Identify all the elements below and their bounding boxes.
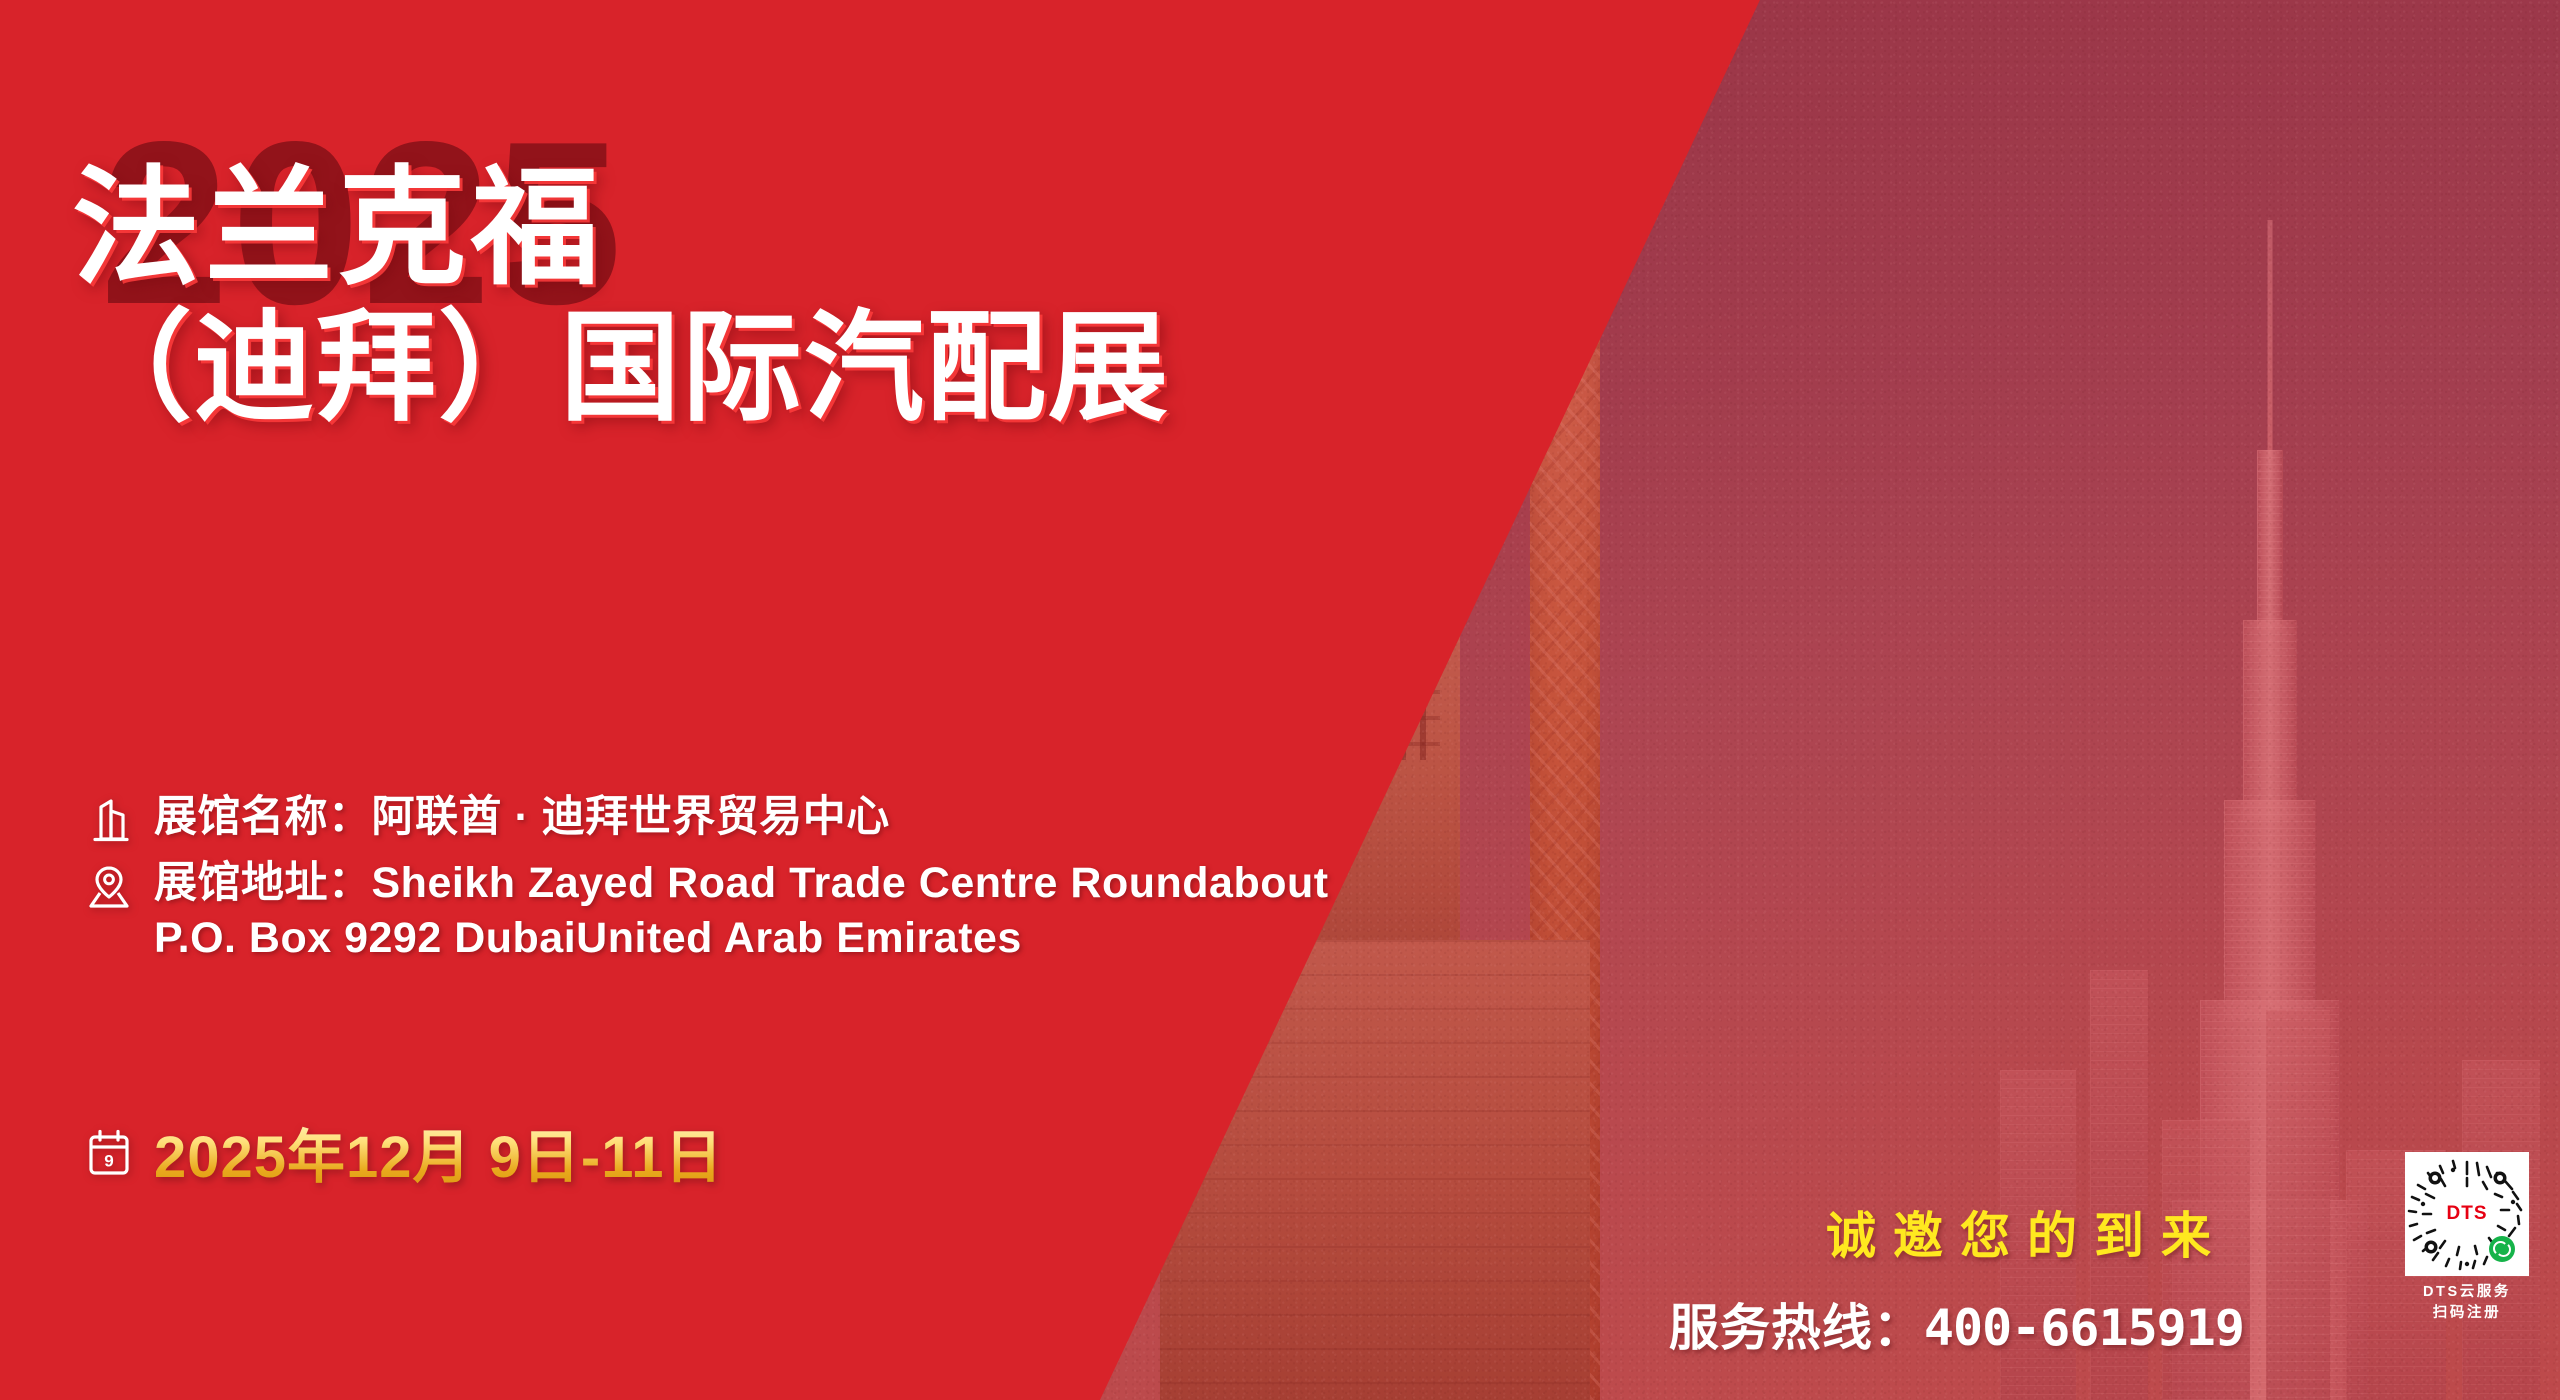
hotline-label: 服务热线：	[1669, 1300, 1924, 1356]
title-line-2: （迪拜）国际汽配展	[72, 304, 1170, 434]
exhibition-poster: 2025 法兰克福 （迪拜）国际汽配展 展馆名称：阿联酋 · 迪拜世界贸易中心	[0, 0, 2560, 1400]
invitation-text: 诚邀您的到来	[1826, 1196, 2228, 1268]
qr-caption: DTS云服务 扫码注册	[2398, 1282, 2536, 1323]
qr-brand-text: DTS	[2447, 1203, 2488, 1225]
event-date-row: 9 2025年12月 9日-11日	[86, 1110, 724, 1194]
venue-name-text: 展馆名称：阿联酋 · 迪拜世界贸易中心	[154, 790, 890, 845]
event-date-text: 2025年12月 9日-11日	[154, 1110, 724, 1194]
poster-title: 法兰克福 （迪拜）国际汽配展	[72, 160, 1170, 434]
service-hotline: 服务热线：400-6615919	[1669, 1288, 2244, 1360]
venue-info-block: 展馆名称：阿联酋 · 迪拜世界贸易中心 展馆地址：Sheikh Zayed Ro…	[86, 790, 1426, 976]
hotline-number: 400-6615919	[1924, 1299, 2244, 1357]
title-line-1: 法兰克福	[72, 160, 1170, 298]
qr-code-image[interactable]: DTS	[2405, 1152, 2529, 1276]
venue-address-row: 展馆地址：Sheikh Zayed Road Trade Centre Roun…	[86, 856, 1426, 966]
venue-name-row: 展馆名称：阿联酋 · 迪拜世界贸易中心	[86, 790, 1426, 846]
calendar-day-number: 9	[104, 1152, 113, 1171]
wechat-miniprogram-icon	[2489, 1236, 2515, 1262]
qr-code-block[interactable]: DTS DTS云服务 扫码注册	[2398, 1152, 2536, 1323]
building-icon	[86, 794, 132, 846]
venue-address-text: 展馆地址：Sheikh Zayed Road Trade Centre Roun…	[154, 856, 1404, 966]
qr-caption-line-2: 扫码注册	[2398, 1303, 2536, 1324]
qr-caption-line-1: DTS云服务	[2398, 1282, 2536, 1303]
poster-content: 2025 法兰克福 （迪拜）国际汽配展 展馆名称：阿联酋 · 迪拜世界贸易中心	[0, 0, 2560, 1400]
location-pin-icon	[86, 860, 132, 912]
calendar-icon: 9	[86, 1128, 132, 1180]
